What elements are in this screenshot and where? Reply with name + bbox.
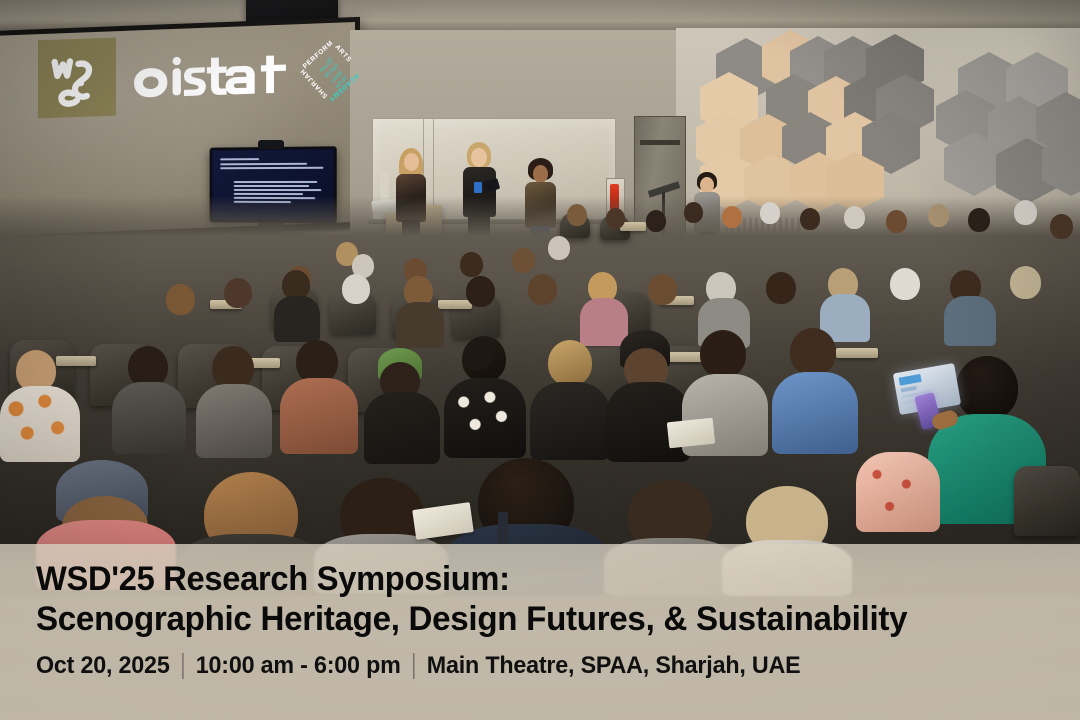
attendee-head xyxy=(606,208,625,229)
attendee-body xyxy=(444,378,526,458)
attendee-head xyxy=(800,208,820,230)
meta-separator xyxy=(182,653,183,679)
door-vent xyxy=(640,140,680,145)
event-caption-band: WSD'25 Research Symposium: Scenographic … xyxy=(0,544,1080,720)
attendee-head xyxy=(460,252,483,277)
attendee-head xyxy=(684,202,703,223)
chair xyxy=(1014,466,1080,536)
attendee-head xyxy=(700,330,746,378)
oistat-logo xyxy=(132,49,288,104)
camera-icon xyxy=(258,140,284,149)
attendee-head xyxy=(528,274,557,305)
attendee-body xyxy=(944,296,996,346)
event-meta: Oct 20, 2025 10:00 am - 6:00 pm Main The… xyxy=(36,652,1025,680)
attendee-head xyxy=(462,336,506,382)
svg-text:SHARJAH: SHARJAH xyxy=(299,67,329,99)
event-time: 10:00 am - 6:00 pm xyxy=(196,652,401,680)
attendee-body xyxy=(196,384,272,458)
attendee-body xyxy=(530,382,610,460)
attendee-head xyxy=(886,210,907,233)
attendee-body xyxy=(396,302,444,348)
event-poster: PERFORMING ARTS ACADEMY SHARJAH أكاديمية… xyxy=(0,0,1080,720)
lanyard xyxy=(498,512,508,546)
event-title-line-1: WSD'25 Research Symposium: xyxy=(36,560,1015,599)
event-title-line-2: Scenographic Heritage, Design Futures, &… xyxy=(36,599,1015,639)
attendee-body xyxy=(772,372,858,454)
tablet-arm-desk xyxy=(438,300,472,309)
attendee-head xyxy=(567,204,587,226)
attendee-body xyxy=(364,392,440,464)
attendee-head xyxy=(548,340,592,386)
attendee-head xyxy=(548,236,570,260)
attendee-body xyxy=(0,386,80,462)
event-venue: Main Theatre, SPAA, Sharjah, UAE xyxy=(427,652,801,680)
meta-separator xyxy=(413,653,414,679)
attendee-head xyxy=(342,274,370,304)
attendee-body xyxy=(580,298,628,346)
attendee-head xyxy=(512,248,535,273)
attendee-head xyxy=(1050,214,1073,239)
attendee-head xyxy=(844,206,865,229)
attendee-head xyxy=(956,356,1018,420)
attendee-head xyxy=(646,210,666,232)
attendee-head xyxy=(928,204,949,227)
attendee-head xyxy=(1014,200,1037,225)
attendee-head xyxy=(648,274,677,305)
attendee-body xyxy=(856,452,940,532)
attendee-head xyxy=(968,208,990,232)
notebook xyxy=(667,418,715,449)
attendee-head xyxy=(790,328,836,376)
attendee-body xyxy=(280,378,358,454)
attendee-body xyxy=(112,382,186,454)
wsd-logo xyxy=(38,38,116,119)
attendee-head xyxy=(722,206,742,228)
attendee-head xyxy=(166,284,195,315)
attendee-head xyxy=(760,202,780,224)
lanyard xyxy=(474,182,482,193)
attendee-head xyxy=(890,268,920,300)
tablet-arm-desk xyxy=(836,348,878,358)
spaa-logo: PERFORMING ARTS ACADEMY SHARJAH أكاديمية… xyxy=(293,33,369,109)
tablet-arm-desk xyxy=(56,356,96,366)
attendee-head xyxy=(224,278,252,308)
attendee-body xyxy=(274,296,320,342)
attendee-head xyxy=(766,272,796,304)
attendee-head xyxy=(1010,266,1041,299)
svg-text:ARTS: ARTS xyxy=(333,44,352,64)
attendee-head xyxy=(466,276,495,307)
event-date: Oct 20, 2025 xyxy=(36,652,170,680)
